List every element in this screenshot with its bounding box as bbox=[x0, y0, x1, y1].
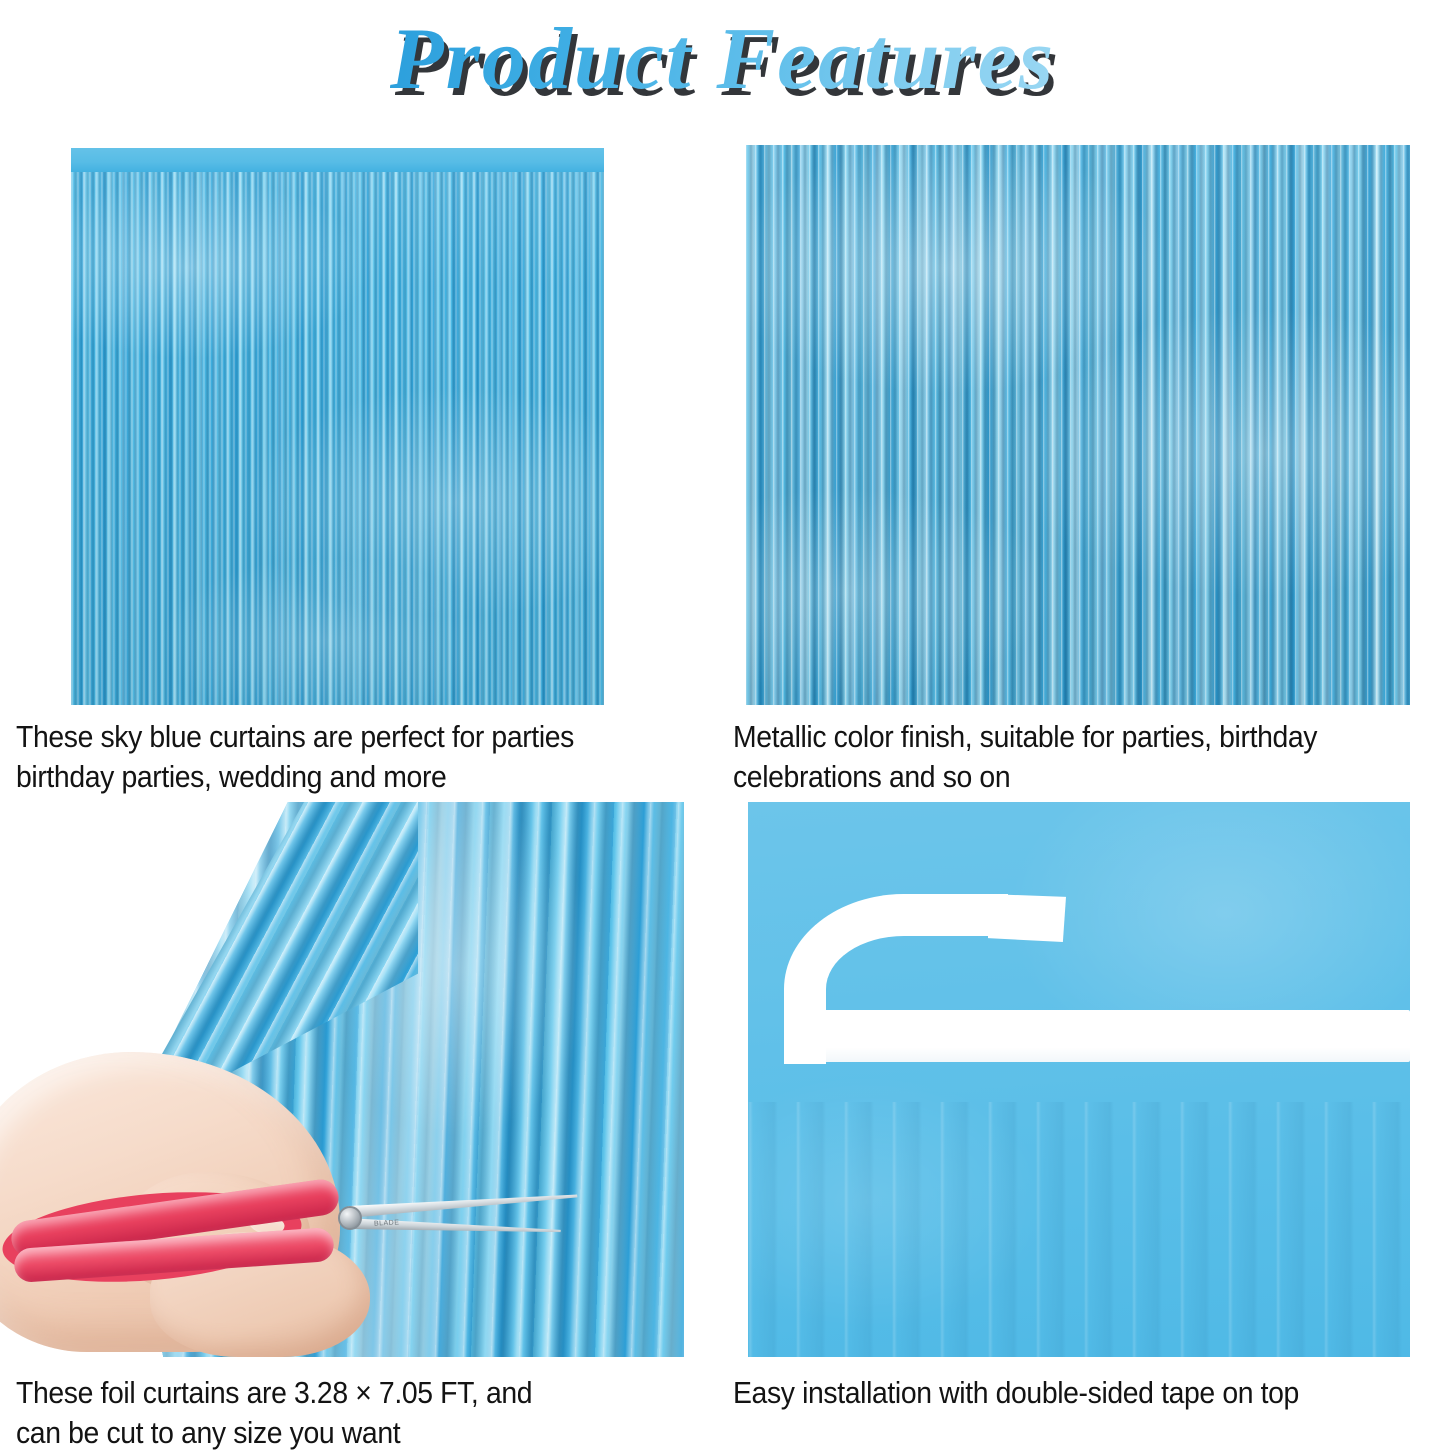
feature-caption-1: These sky blue curtains are perfect for … bbox=[16, 718, 667, 797]
feature-image-1 bbox=[71, 148, 604, 705]
page-title-area: Product Features bbox=[0, 0, 1445, 120]
feature-caption-4: Easy installation with double-sided tape… bbox=[733, 1374, 1395, 1414]
scissors-pivot-screw bbox=[338, 1206, 362, 1230]
curtain-sheen-overlay bbox=[71, 172, 604, 705]
feature-image-2 bbox=[746, 145, 1410, 705]
tape-peeled-tip bbox=[988, 894, 1066, 942]
feature-image-4 bbox=[748, 802, 1410, 1357]
curtain-header-strip bbox=[71, 148, 604, 174]
scissors-blade-marking: BLADE bbox=[374, 1219, 400, 1227]
foil-highlight-overlay bbox=[748, 802, 1410, 1357]
metallic-sheen-overlay bbox=[746, 145, 1410, 705]
feature-caption-2: Metallic color finish, suitable for part… bbox=[733, 718, 1395, 797]
product-features-page: Product Features These sky blue curtains… bbox=[0, 0, 1445, 1450]
feature-image-3: BLADE bbox=[0, 802, 684, 1357]
feature-caption-3: These foil curtains are 3.28 × 7.05 FT, … bbox=[16, 1374, 658, 1450]
page-title: Product Features bbox=[390, 16, 1055, 104]
